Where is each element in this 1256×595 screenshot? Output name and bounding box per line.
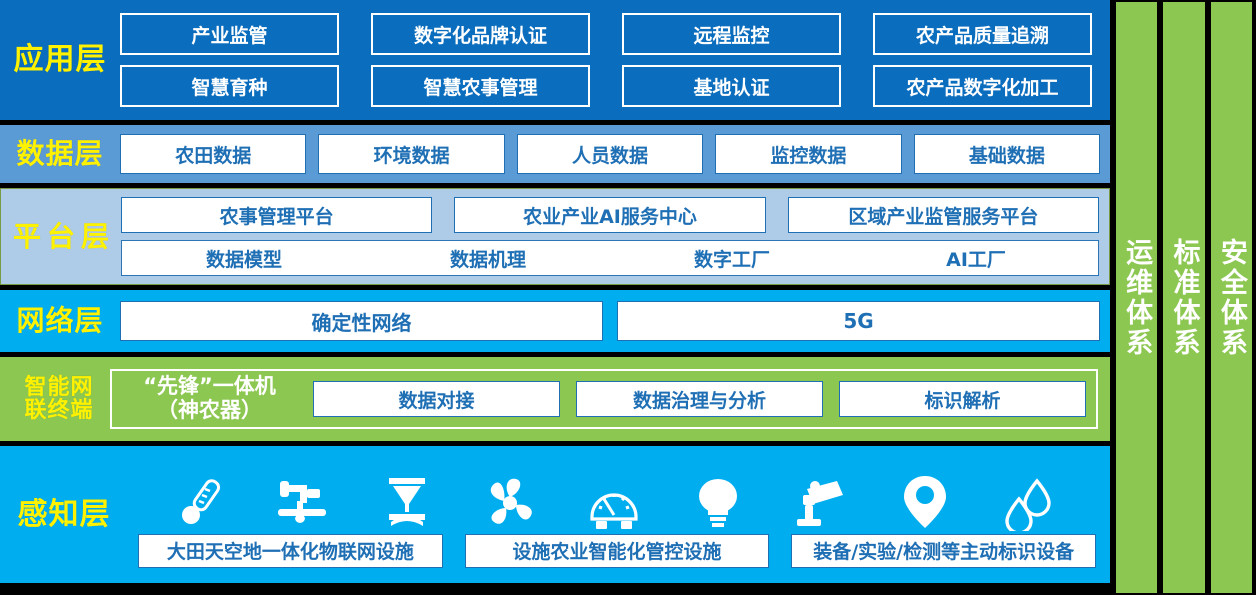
data-item-basic[interactable]: 基础数据	[914, 134, 1100, 174]
sense-item-field-iot[interactable]: 大田天空地一体化物联网设施	[138, 534, 443, 568]
location-pin-icon	[895, 472, 955, 534]
data-item-farmland[interactable]: 农田数据	[120, 134, 306, 174]
side-columns: 运维体系 标准体系 安全体系	[1110, 0, 1256, 595]
data-item-environment[interactable]: 环境数据	[318, 134, 504, 174]
water-drop-icon	[998, 472, 1058, 534]
layer-sense-label: 感知层	[0, 499, 128, 531]
layer-stack: 应用层 产业监管 数字化品牌认证 远程监控 农产品质量追溯 智慧育种 智慧农事管…	[0, 0, 1110, 595]
data-items: 农田数据 环境数据 人员数据 监控数据 基础数据	[120, 134, 1110, 174]
architecture-diagram: 应用层 产业监管 数字化品牌认证 远程监控 农产品质量追溯 智慧育种 智慧农事管…	[0, 0, 1256, 595]
sense-item-active-identification-equipment[interactable]: 装备/实验/检测等主动标识设备	[791, 534, 1096, 568]
network-items: 确定性网络 5G	[120, 301, 1110, 341]
sense-icon-row	[128, 456, 1100, 534]
app-item-smart-breeding[interactable]: 智慧育种	[120, 65, 339, 107]
platform-sub-data-mechanism[interactable]: 数据机理	[366, 245, 610, 272]
platform-items: 农事管理平台 农业产业AI服务中心 区域产业监管服务平台 数据模型 数据机理 数…	[121, 197, 1109, 276]
data-item-personnel[interactable]: 人员数据	[517, 134, 703, 174]
layer-terminal-label: 智能网 联终端	[0, 376, 110, 422]
side-column-standards-label: 标准体系	[1170, 238, 1197, 358]
network-item-deterministic-network[interactable]: 确定性网络	[120, 301, 603, 341]
layer-application: 应用层 产业监管 数字化品牌认证 远程监控 农产品质量追溯 智慧育种 智慧农事管…	[0, 0, 1110, 120]
platform-top-row: 农事管理平台 农业产业AI服务中心 区域产业监管服务平台	[121, 197, 1099, 233]
layer-network: 网络层 确定性网络 5G	[0, 290, 1110, 352]
layer-sense: 感知层	[0, 446, 1110, 583]
fan-icon	[480, 472, 540, 534]
app-item-digital-brand-certification[interactable]: 数字化品牌认证	[371, 13, 590, 55]
app-item-industry-supervision[interactable]: 产业监管	[120, 13, 339, 55]
terminal-item-data-docking[interactable]: 数据对接	[313, 381, 560, 417]
app-item-base-certification[interactable]: 基地认证	[622, 65, 841, 107]
water-tap-icon	[273, 472, 333, 534]
terminal-item-data-governance-analysis[interactable]: 数据治理与分析	[576, 381, 823, 417]
side-column-operations[interactable]: 运维体系	[1116, 2, 1157, 593]
side-column-security-label: 安全体系	[1218, 238, 1245, 358]
app-item-remote-monitoring[interactable]: 远程监控	[622, 13, 841, 55]
platform-item-ai-service-center[interactable]: 农业产业AI服务中心	[454, 197, 765, 233]
layer-platform-label: 平台层	[1, 222, 121, 251]
light-bulb-icon	[688, 472, 748, 534]
layer-data-label: 数据层	[0, 139, 120, 168]
layer-data: 数据层 农田数据 环境数据 人员数据 监控数据 基础数据	[0, 125, 1110, 183]
side-column-standards[interactable]: 标准体系	[1163, 2, 1204, 593]
thermometer-icon	[170, 472, 230, 534]
network-item-5g[interactable]: 5G	[617, 301, 1100, 341]
platform-item-farming-management[interactable]: 农事管理平台	[121, 197, 432, 233]
platform-bottom-row: 数据模型 数据机理 数字工厂 AI工厂	[121, 240, 1099, 276]
app-item-product-digital-processing[interactable]: 农产品数字化加工	[873, 65, 1092, 107]
platform-sub-ai-factory[interactable]: AI工厂	[854, 245, 1098, 272]
layer-network-label: 网络层	[0, 306, 120, 335]
data-item-monitoring[interactable]: 监控数据	[715, 134, 901, 174]
sense-body: 大田天空地一体化物联网设施 设施农业智能化管控设施 装备/实验/检测等主动标识设…	[128, 456, 1110, 574]
app-item-product-quality-traceability[interactable]: 农产品质量追溯	[873, 13, 1092, 55]
platform-item-regional-supervision[interactable]: 区域产业监管服务平台	[788, 197, 1099, 233]
terminal-items: “先锋”一体机 （神农器） 数据对接 数据治理与分析 标识解析	[110, 369, 1098, 429]
gauge-icon	[584, 472, 644, 534]
side-column-security[interactable]: 安全体系	[1211, 2, 1252, 593]
camera-icon	[791, 472, 851, 534]
terminal-item-identifier-resolution[interactable]: 标识解析	[839, 381, 1086, 417]
app-item-smart-farming-management[interactable]: 智慧农事管理	[371, 65, 590, 107]
platform-sub-data-model[interactable]: 数据模型	[122, 245, 366, 272]
application-items: 产业监管 数字化品牌认证 远程监控 农产品质量追溯 智慧育种 智慧农事管理 基地…	[120, 13, 1102, 107]
soil-sensor-icon	[377, 472, 437, 534]
sense-item-facility-agriculture-control[interactable]: 设施农业智能化管控设施	[465, 534, 770, 568]
side-column-operations-label: 运维体系	[1123, 238, 1150, 358]
layer-application-label: 应用层	[0, 44, 120, 76]
layer-terminal: 智能网 联终端 “先锋”一体机 （神农器） 数据对接 数据治理与分析 标识解析	[0, 357, 1110, 441]
sense-items: 大田天空地一体化物联网设施 设施农业智能化管控设施 装备/实验/检测等主动标识设…	[128, 534, 1100, 574]
platform-sub-digital-factory[interactable]: 数字工厂	[610, 245, 854, 272]
terminal-pioneer-device: “先锋”一体机 （神农器）	[122, 375, 297, 422]
layer-platform: 平台层 农事管理平台 农业产业AI服务中心 区域产业监管服务平台 数据模型 数据…	[0, 188, 1110, 285]
